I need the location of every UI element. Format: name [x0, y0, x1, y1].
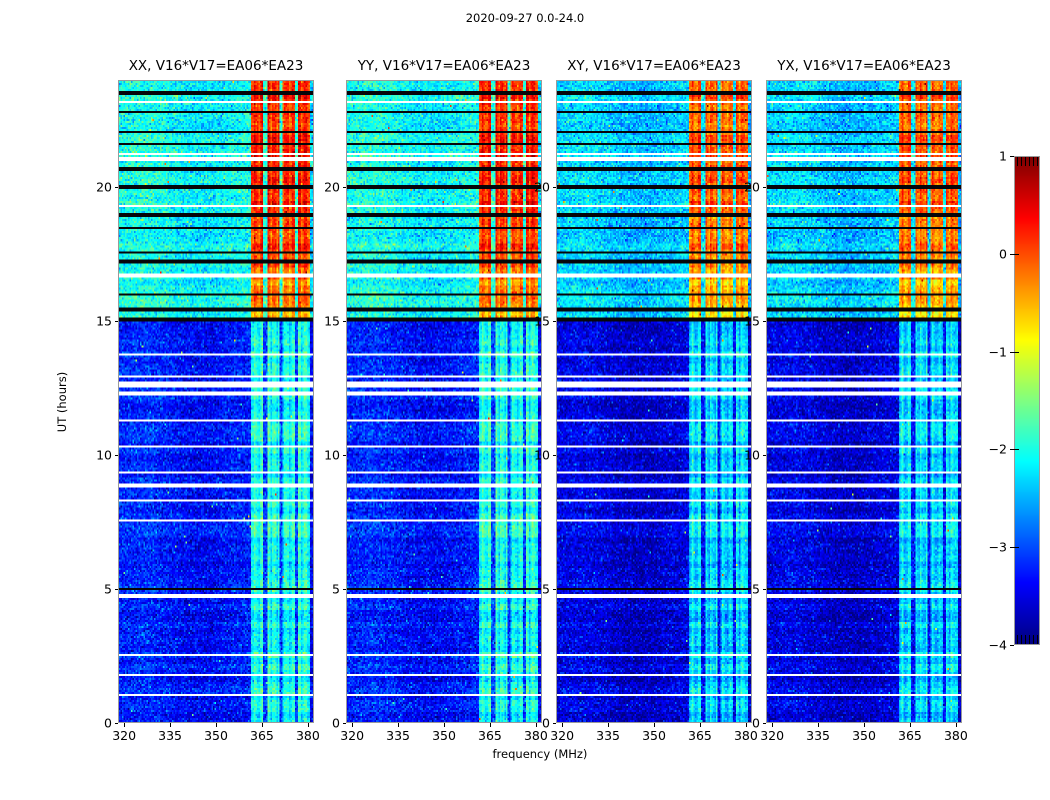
waterfall-image-xx[interactable]	[118, 80, 314, 723]
y-tick-label: 10	[744, 448, 760, 463]
y-tick-label: 0	[332, 716, 340, 731]
panel-yy: YY, V16*V17=EA06*EA233203353503653800510…	[346, 80, 542, 723]
waterfall-image-yx[interactable]	[766, 80, 962, 723]
y-tick-label: 20	[324, 180, 340, 195]
y-tick-mark	[553, 723, 557, 724]
x-tick-label: 335	[158, 728, 182, 743]
x-tick-label: 335	[596, 728, 620, 743]
y-tick-label: 10	[324, 448, 340, 463]
colorbar-tick-label: −4	[989, 638, 1007, 653]
y-tick-label: 10	[96, 448, 112, 463]
y-tick-label: 5	[752, 582, 760, 597]
x-tick-label: 365	[250, 728, 274, 743]
y-tick-label: 20	[96, 180, 112, 195]
x-tick-label: 320	[340, 728, 364, 743]
colorbar-tick-label: −3	[989, 540, 1007, 555]
y-tick-label: 0	[104, 716, 112, 731]
y-tick-label: 5	[332, 582, 340, 597]
y-tick-label: 10	[534, 448, 550, 463]
x-tick-label: 320	[760, 728, 784, 743]
colorbar-inner-tick	[1014, 352, 1019, 353]
y-tick-label: 0	[542, 716, 550, 731]
y-tick-label: 15	[96, 314, 112, 329]
colorbar-tick-label: −1	[989, 344, 1007, 359]
colorbar[interactable]: −4−3−2−101 log10 amplitude	[1014, 156, 1040, 645]
panel-yx: YX, V16*V17=EA06*EA233203353503653800510…	[766, 80, 962, 723]
x-tick-label: 365	[898, 728, 922, 743]
panel-title-xy: XY, V16*V17=EA06*EA23	[556, 58, 752, 74]
x-tick-label: 335	[806, 728, 830, 743]
colorbar-tick-labels: −4−3−2−101	[974, 156, 1014, 645]
x-tick-label: 380	[296, 728, 320, 743]
x-axis-tick-labels: 320335350365380	[346, 723, 542, 745]
y-tick-mark	[115, 723, 119, 724]
y-tick-label: 20	[744, 180, 760, 195]
panel-title-xx: XX, V16*V17=EA06*EA23	[118, 58, 314, 74]
panel-title-yy: YY, V16*V17=EA06*EA23	[346, 58, 542, 74]
y-axis-label: UT (hours)	[55, 371, 69, 431]
panel-xx: XX, V16*V17=EA06*EA233203353503653800510…	[118, 80, 314, 723]
x-tick-label: 380	[944, 728, 968, 743]
colorbar-tick-mark	[1010, 645, 1014, 646]
x-tick-label: 350	[642, 728, 666, 743]
figure-suptitle: 2020-09-27 0.0-24.0	[0, 11, 1050, 25]
y-tick-mark	[343, 723, 347, 724]
x-axis-tick-labels: 320335350365380	[118, 723, 314, 745]
y-axis-tick-labels: 05101520	[726, 80, 766, 723]
colorbar-inner-tick	[1014, 449, 1019, 450]
x-tick-label: 365	[478, 728, 502, 743]
y-tick-label: 15	[744, 314, 760, 329]
y-tick-label: 20	[534, 180, 550, 195]
y-tick-mark	[763, 723, 767, 724]
colorbar-tick-label: −2	[989, 442, 1007, 457]
x-tick-label: 320	[112, 728, 136, 743]
y-tick-label: 15	[534, 314, 550, 329]
x-tick-label: 365	[688, 728, 712, 743]
x-axis-label: frequency (MHz)	[493, 747, 588, 761]
x-tick-label: 350	[432, 728, 456, 743]
colorbar-inner-tick	[1014, 254, 1019, 255]
y-tick-label: 15	[324, 314, 340, 329]
colorbar-tick-label: 0	[999, 246, 1007, 261]
x-axis-tick-labels: 320335350365380	[766, 723, 962, 745]
x-tick-label: 335	[386, 728, 410, 743]
x-tick-label: 350	[204, 728, 228, 743]
panel-title-yx: YX, V16*V17=EA06*EA23	[766, 58, 962, 74]
panel-xy: XY, V16*V17=EA06*EA233203353503653800510…	[556, 80, 752, 723]
x-tick-label: 350	[852, 728, 876, 743]
y-axis-tick-labels: 05101520	[78, 80, 118, 723]
colorbar-gradient	[1014, 156, 1040, 645]
y-axis-tick-labels: 05101520	[516, 80, 556, 723]
x-axis-tick-labels: 320335350365380	[556, 723, 752, 745]
x-tick-label: 320	[550, 728, 574, 743]
waterfall-image-xy[interactable]	[556, 80, 752, 723]
colorbar-inner-tick	[1014, 547, 1019, 548]
y-tick-label: 5	[104, 582, 112, 597]
waterfall-image-yy[interactable]	[346, 80, 542, 723]
colorbar-tick-label: 1	[999, 149, 1007, 164]
y-axis-tick-labels: 05101520	[306, 80, 346, 723]
figure-canvas: 2020-09-27 0.0-24.0 XX, V16*V17=EA06*EA2…	[0, 0, 1050, 800]
y-tick-label: 5	[542, 582, 550, 597]
y-tick-label: 0	[752, 716, 760, 731]
